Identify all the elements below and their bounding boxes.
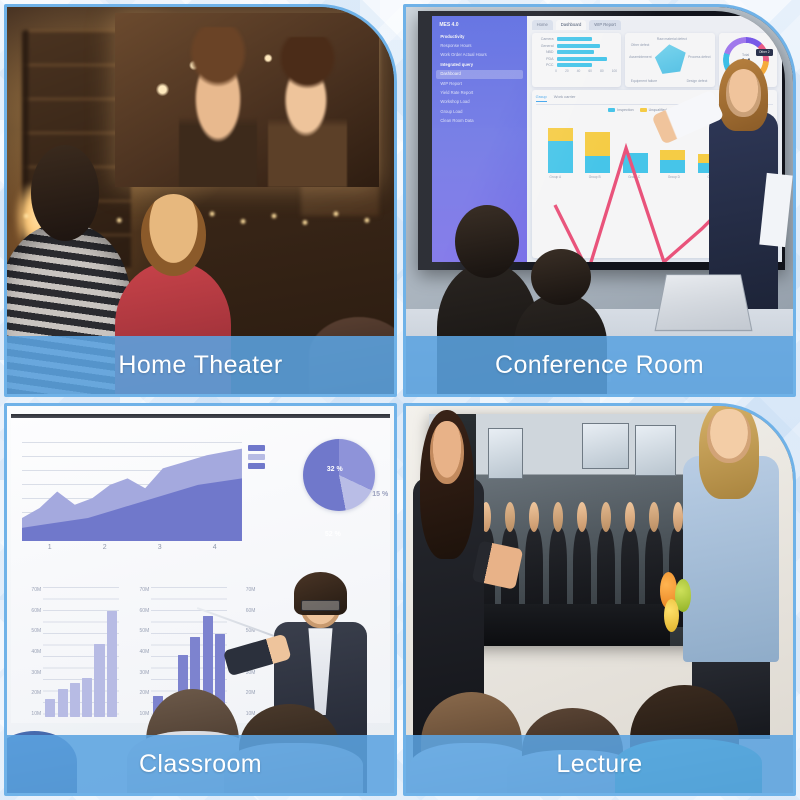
juggling-ball-yellow	[664, 599, 679, 632]
presenter	[700, 69, 785, 309]
axis-tick: 100	[612, 69, 617, 73]
hbar-fill	[557, 57, 608, 61]
pie-slice-label-32: 32 %	[327, 466, 343, 473]
sidebar-item-group-load[interactable]: Group Load	[436, 107, 522, 116]
pie-chart	[303, 439, 375, 511]
caption-bar-home-theater: Home Theater	[7, 336, 394, 394]
app-title: MES 4.0	[436, 21, 522, 32]
sidebar-group-productivity[interactable]: Productivity	[436, 32, 522, 41]
xaxis-tick: 4	[213, 544, 217, 551]
laptop	[655, 275, 753, 332]
ytick: 10M	[125, 711, 150, 717]
hbar-row: PCC	[536, 63, 617, 67]
caption-label: Conference Room	[495, 351, 704, 380]
bar-inspection	[548, 141, 573, 173]
sidebar-item-response-hours[interactable]: Response Hours	[436, 41, 522, 50]
caption-bar-classroom: Classroom	[7, 735, 394, 793]
xaxis-label: Group D	[668, 175, 680, 179]
bar-unqualified	[548, 128, 573, 141]
xaxis-tick: 1	[48, 544, 52, 551]
hbar-row: General	[536, 44, 617, 48]
bar	[58, 689, 68, 718]
radar-axis-label: Equipment failure	[631, 79, 657, 83]
ytick: 40M	[17, 649, 42, 655]
bar-unqualified	[660, 150, 685, 160]
xaxis-label: Group B	[589, 175, 601, 179]
sidebar-item-wip-report[interactable]: WIP Report	[436, 79, 522, 88]
caption-label: Classroom	[139, 750, 262, 779]
movie-character-woman	[268, 37, 347, 187]
axis-tick: 80	[600, 69, 604, 73]
hbar-fill	[557, 44, 600, 48]
radar-axis-label: Process defect	[688, 55, 710, 59]
projection-screen	[115, 13, 378, 187]
ytick: 30M	[125, 670, 150, 676]
bar-inspection	[660, 160, 685, 173]
radar-polygon	[654, 44, 688, 73]
ytick: 70M	[17, 587, 42, 593]
caption-bar-conference-room: Conference Room	[406, 336, 793, 394]
ytick: 70M	[231, 587, 256, 593]
legend-swatch	[248, 463, 265, 469]
ytick: 40M	[125, 649, 150, 655]
mini-yaxis: 70M 60M 50M 40M 30M 20M 10M	[17, 587, 44, 717]
ytick: 70M	[125, 587, 150, 593]
use-case-collage: Home Theater MES 4.0 Productivity Respon…	[0, 0, 800, 800]
subtab-work-carrier[interactable]: Work carrier	[554, 94, 576, 102]
pie-slice-label-15: 15 %	[372, 491, 388, 498]
radar-axis-label: Raw material defect	[657, 37, 687, 41]
axis-tick: 40	[577, 69, 581, 73]
mini-plot	[43, 587, 119, 717]
bar	[94, 644, 104, 717]
mini-bar-chart-1: 70M 60M 50M 40M 30M 20M 10M	[17, 587, 119, 717]
hbar-axis: 0 20 40 60 80 100	[536, 69, 617, 73]
sidebar-item-clean-room-data[interactable]: Clean Room Data	[436, 117, 522, 126]
ytick: 50M	[125, 628, 150, 634]
projected-window	[635, 425, 676, 476]
subtab-group[interactable]: Group	[536, 94, 547, 102]
caption-bar-lecture: Lecture	[406, 735, 793, 793]
speaker-head	[707, 409, 750, 462]
hbar-label: Camera	[536, 37, 554, 41]
column-group	[623, 115, 648, 173]
axis-tick: 20	[565, 69, 569, 73]
sidebar-item-work-order-actual-hours[interactable]: Work Order Actual Hours	[436, 51, 522, 60]
ytick: 20M	[231, 690, 256, 696]
caption-label: Home Theater	[118, 351, 282, 380]
presenter-head	[726, 69, 762, 117]
area-chart-legend	[248, 445, 265, 469]
bar	[107, 611, 117, 718]
mini-yaxis: 70M 60M 50M 40M 30M 20M 10M	[125, 587, 152, 717]
xaxis-label: Group A	[549, 175, 561, 179]
tab-home[interactable]: Home	[532, 20, 553, 30]
legend-swatch	[608, 108, 615, 111]
bar-inspection	[623, 153, 648, 173]
legend-swatch	[248, 445, 265, 451]
ytick: 30M	[17, 670, 42, 676]
legend-swatch	[640, 108, 647, 111]
hbar-row: Camera	[536, 37, 617, 41]
radar-axis-label: Assemblement	[629, 55, 651, 59]
dashboard-tabbar: Home Dashboard WIP Report	[532, 20, 777, 30]
panel-classroom[interactable]: 1 2 3 4 32 % 15 % 52 % 7	[4, 403, 397, 796]
host-head	[430, 421, 464, 484]
hbar-label: General	[536, 44, 554, 48]
legend-item-inspection: Inspection	[608, 108, 633, 112]
sidebar-item-workshop-load[interactable]: Workshop Load	[436, 98, 522, 107]
axis-tick: 60	[588, 69, 592, 73]
area-chart	[22, 442, 242, 541]
radar-axis-label: Other defect	[631, 43, 650, 47]
sidebar-item-yield-rate-report[interactable]: Yield Rate Report	[436, 88, 522, 97]
panel-conference-room[interactable]: MES 4.0 Productivity Response Hours Work…	[403, 4, 796, 397]
panel-home-theater[interactable]: Home Theater	[4, 4, 397, 397]
bar	[45, 699, 55, 717]
ytick: 50M	[17, 628, 42, 634]
xaxis-tick: 3	[158, 544, 162, 551]
projected-stage-equipment	[482, 604, 670, 646]
projected-window	[582, 423, 629, 469]
bar	[82, 678, 92, 717]
xaxis-label: Group C	[628, 175, 640, 179]
bar-unqualified	[585, 132, 610, 155]
bar	[70, 683, 80, 717]
ytick: 60M	[231, 608, 256, 614]
teacher-glasses-icon	[301, 600, 339, 611]
axis-tick: 0	[555, 69, 557, 73]
hbar-fill	[557, 37, 593, 41]
tab-wip-report[interactable]: WIP Report	[589, 20, 621, 30]
column-group	[548, 115, 573, 173]
hbar-row: NBD	[536, 50, 617, 54]
ytick: 20M	[125, 690, 150, 696]
projected-window	[488, 428, 523, 479]
hbar-fill	[557, 63, 593, 67]
sidebar-item-dashboard[interactable]: Dashboard	[436, 70, 522, 79]
hbar-label: PCC	[536, 63, 554, 67]
horizontal-bar-chart: Camera General NBD PDA PCC 0 20 40	[532, 33, 621, 87]
legend-label: Inspection	[617, 108, 633, 112]
hbar-label: PDA	[536, 57, 554, 61]
ytick: 20M	[17, 690, 42, 696]
legend-swatch	[248, 454, 265, 460]
ytick: 60M	[125, 608, 150, 614]
area-chart-xaxis: 1 2 3 4	[22, 544, 242, 551]
bar-inspection	[585, 156, 610, 173]
column-group	[585, 115, 610, 173]
xaxis-tick: 2	[103, 544, 107, 551]
hbar-label: NBD	[536, 50, 554, 54]
panel-lecture[interactable]: Lecture	[403, 403, 796, 796]
tab-dashboard[interactable]: Dashboard	[556, 20, 587, 30]
caption-label: Lecture	[556, 750, 642, 779]
sidebar-group-integrated-query[interactable]: Integrated query	[436, 60, 522, 69]
hbar-fill	[557, 50, 594, 54]
ytick: 10M	[231, 711, 256, 717]
hbar-row: PDA	[536, 57, 617, 61]
pie-slice-label-52: 52 %	[325, 531, 341, 538]
movie-character-man	[179, 27, 258, 187]
ytick: 60M	[17, 608, 42, 614]
ytick: 10M	[17, 711, 42, 717]
donut-tooltip: Other 2	[756, 49, 773, 56]
area-chart-series	[22, 442, 242, 541]
